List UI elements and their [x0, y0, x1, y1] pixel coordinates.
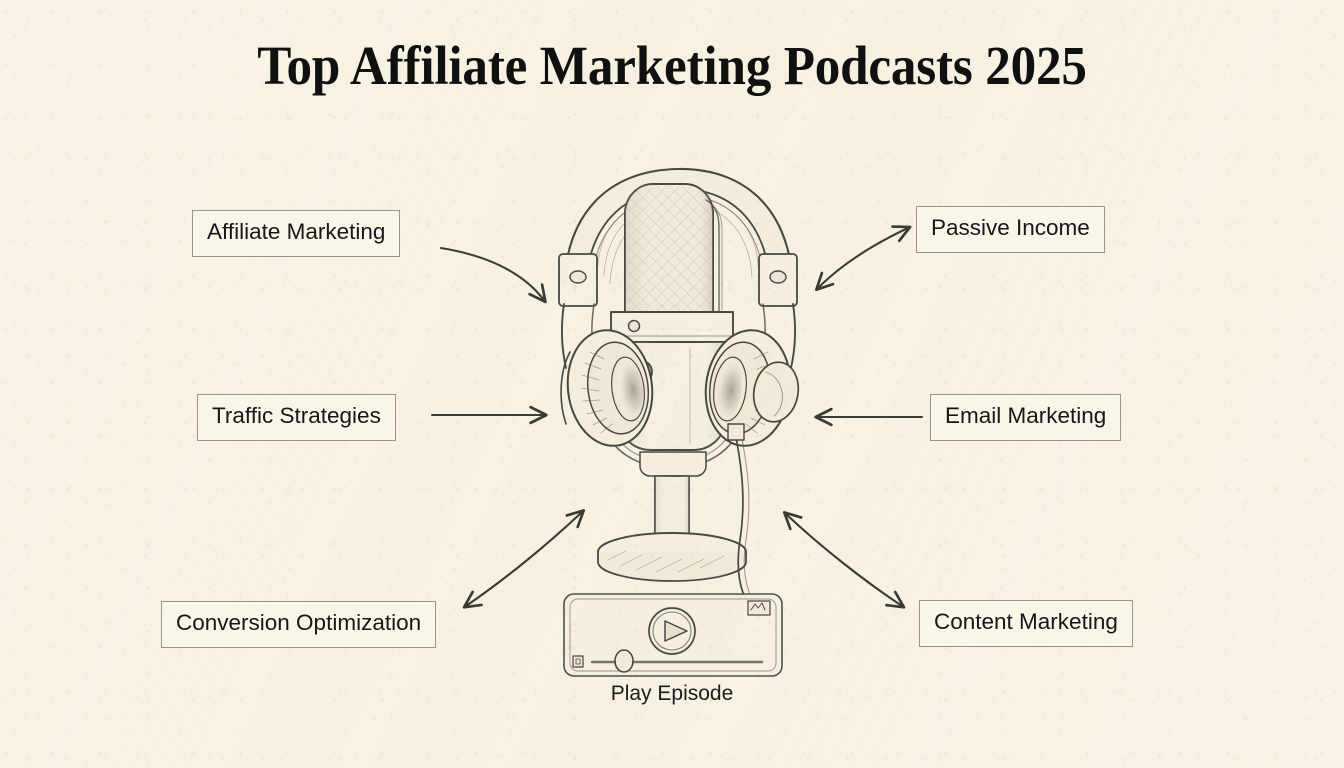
- label-affiliate-marketing[interactable]: Affiliate Marketing: [192, 210, 400, 257]
- arrow-affiliate-marketing: [441, 248, 544, 300]
- label-email-marketing[interactable]: Email Marketing: [930, 394, 1121, 441]
- label-content-marketing[interactable]: Content Marketing: [919, 600, 1133, 647]
- label-traffic-strategies[interactable]: Traffic Strategies: [197, 394, 396, 441]
- arrow-conversion-optimization: [466, 512, 582, 606]
- illustration-layer: [0, 0, 1344, 768]
- label-passive-income[interactable]: Passive Income: [916, 206, 1105, 253]
- player-caption: Play Episode: [0, 682, 1344, 706]
- arrow-passive-income: [818, 228, 908, 288]
- progress-handle: [615, 650, 633, 672]
- label-conversion-optimization[interactable]: Conversion Optimization: [161, 601, 436, 648]
- audio-player-widget: [564, 594, 782, 676]
- page-title: Top Affiliate Marketing Podcasts 2025: [47, 34, 1297, 97]
- arrow-content-marketing: [786, 514, 902, 606]
- poster-canvas: Top Affiliate Marketing Podcasts 2025 Af…: [0, 0, 1344, 768]
